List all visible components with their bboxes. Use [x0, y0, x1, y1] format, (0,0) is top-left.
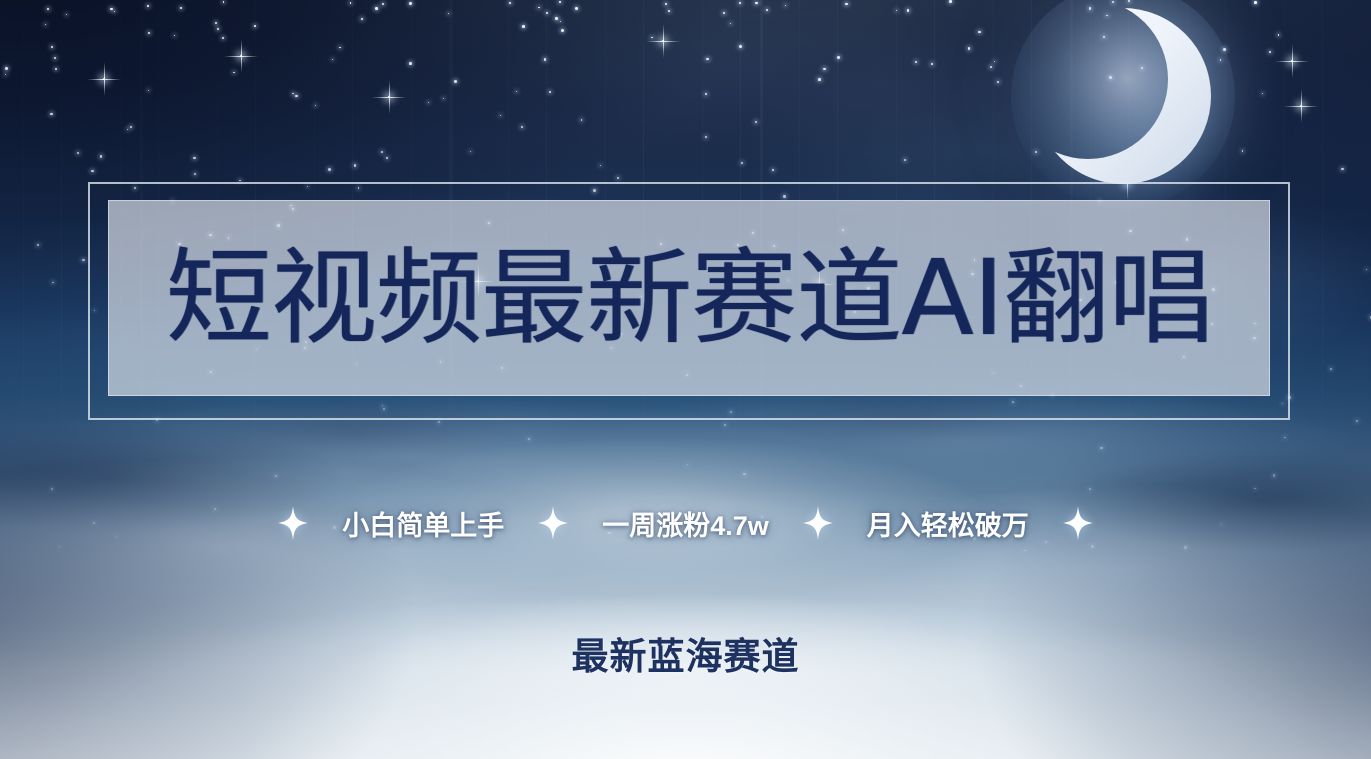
bottom-tagline: 最新蓝海赛道 [0, 626, 1371, 680]
title-panel: 短视频最新赛道AI翻唱 [108, 200, 1270, 396]
sparkle-icon [803, 506, 833, 540]
feature-label-1: 小白简单上手 [308, 504, 538, 543]
feature-row: 小白简单上手 一周涨粉4.7w 月入轻松破万 [0, 500, 1371, 546]
feature-label-3: 月入轻松破万 [833, 504, 1063, 543]
sparkle-icon [1063, 506, 1093, 540]
feature-label-2: 一周涨粉4.7w [568, 504, 803, 543]
sparkle-icon [538, 506, 568, 540]
sparkle-icon [278, 506, 308, 540]
page-title: 短视频最新赛道AI翻唱 [165, 246, 1212, 350]
promo-banner: 短视频最新赛道AI翻唱 小白简单上手 一周涨粉4.7w 月入轻松破万 [0, 0, 1371, 759]
